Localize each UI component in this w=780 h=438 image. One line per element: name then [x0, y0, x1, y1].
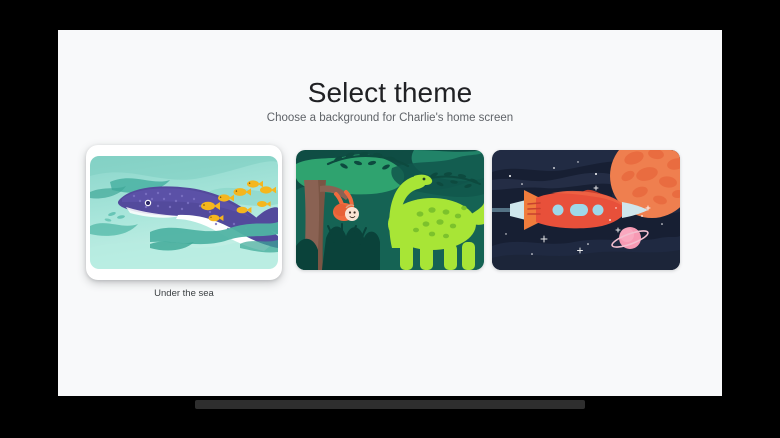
theme-thumbnail-outer-space[interactable] — [492, 150, 680, 270]
page-title: Select theme — [58, 77, 722, 109]
theme-option-outer-space[interactable]: Outer space — [492, 150, 688, 295]
theme-option-under-the-sea[interactable]: Under the sea — [90, 150, 286, 295]
screenshot-root: Select theme Choose a background for Cha… — [0, 0, 780, 438]
page-subtitle: Choose a background for Charlie's home s… — [58, 112, 722, 124]
theme-options-row: Under the sea — [58, 150, 722, 310]
tv-stand — [195, 400, 585, 409]
theme-option-dinosaurs[interactable]: Dinosaurs — [296, 150, 492, 295]
tv-screen: Select theme Choose a background for Cha… — [58, 30, 722, 396]
theme-label-under-the-sea: Under the sea — [86, 288, 282, 299]
theme-thumbnail-dinosaurs[interactable] — [296, 150, 484, 270]
theme-thumbnail-under-the-sea[interactable] — [90, 156, 278, 269]
